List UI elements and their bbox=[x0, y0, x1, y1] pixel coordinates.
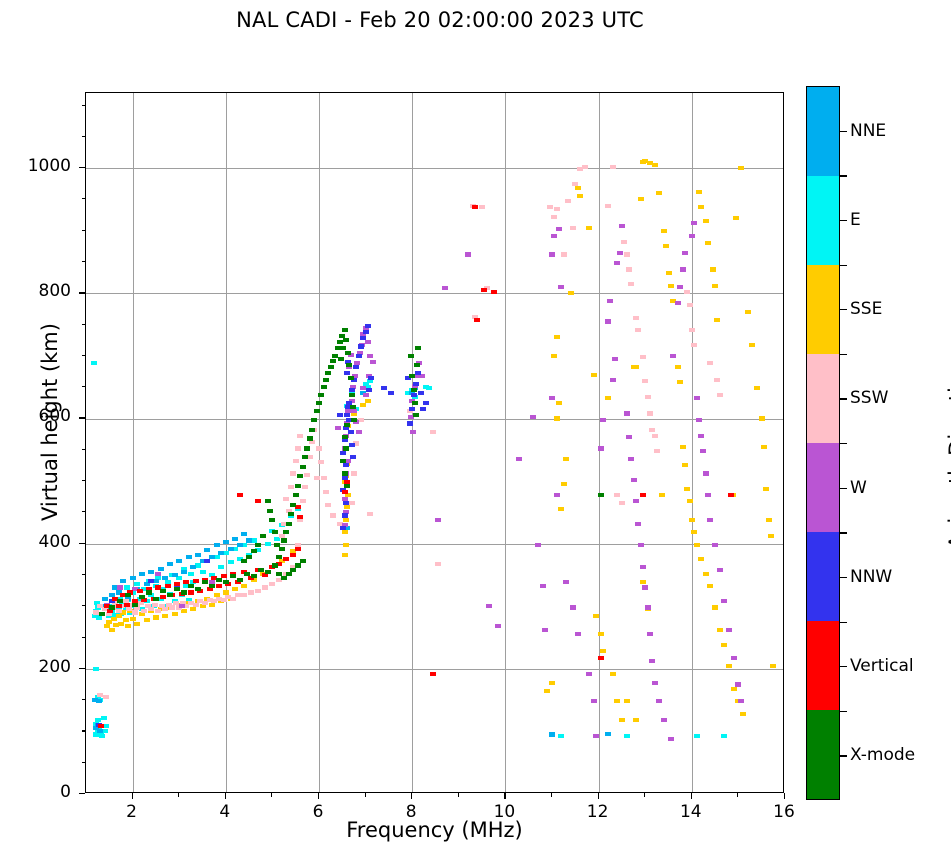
data-mark bbox=[346, 363, 352, 367]
data-mark bbox=[216, 578, 222, 582]
data-mark bbox=[749, 343, 755, 347]
data-mark bbox=[137, 589, 143, 593]
y-tick bbox=[79, 668, 85, 669]
data-mark bbox=[343, 518, 349, 522]
data-mark bbox=[181, 570, 187, 574]
data-mark bbox=[563, 580, 569, 584]
data-mark bbox=[99, 612, 105, 616]
data-mark bbox=[731, 656, 737, 660]
data-mark bbox=[283, 530, 289, 534]
y-tick-label: 0 bbox=[7, 782, 71, 802]
data-mark bbox=[281, 538, 287, 542]
data-mark bbox=[216, 584, 222, 588]
data-mark bbox=[593, 614, 599, 618]
data-mark bbox=[666, 271, 672, 275]
y-minor-tick bbox=[82, 355, 86, 356]
data-mark bbox=[591, 373, 597, 377]
data-mark bbox=[117, 585, 123, 589]
y-minor-tick bbox=[82, 105, 86, 106]
colorbar-separator-tick bbox=[840, 532, 847, 533]
data-mark bbox=[593, 734, 599, 738]
data-mark bbox=[348, 430, 354, 434]
data-mark bbox=[670, 354, 676, 358]
data-mark bbox=[316, 446, 322, 450]
data-mark bbox=[344, 423, 350, 427]
data-mark bbox=[714, 318, 720, 322]
x-minor-tick bbox=[178, 793, 179, 797]
data-mark bbox=[152, 603, 158, 607]
data-mark bbox=[415, 346, 421, 350]
data-mark bbox=[344, 484, 350, 488]
data-mark bbox=[276, 555, 282, 559]
x-axis-title: Frequency (MHz) bbox=[85, 818, 784, 842]
data-mark bbox=[540, 584, 546, 588]
data-mark bbox=[314, 476, 320, 480]
data-mark bbox=[248, 590, 254, 594]
data-mark bbox=[148, 607, 154, 611]
data-mark bbox=[330, 513, 336, 517]
data-mark bbox=[698, 557, 704, 561]
data-mark bbox=[209, 603, 215, 607]
data-mark bbox=[652, 434, 658, 438]
data-mark bbox=[130, 617, 136, 621]
data-mark bbox=[745, 310, 751, 314]
data-mark bbox=[735, 682, 741, 686]
data-mark bbox=[605, 319, 611, 323]
data-mark bbox=[281, 576, 287, 580]
data-mark bbox=[230, 574, 236, 578]
data-mark bbox=[202, 580, 208, 584]
data-mark bbox=[694, 543, 700, 547]
data-mark bbox=[321, 385, 327, 389]
data-mark bbox=[409, 374, 415, 378]
data-mark bbox=[274, 543, 280, 547]
data-mark bbox=[366, 388, 372, 392]
data-mark bbox=[288, 512, 294, 516]
data-mark bbox=[288, 485, 294, 489]
colorbar-segment-nnw[interactable] bbox=[807, 532, 839, 621]
data-mark bbox=[290, 471, 296, 475]
data-mark bbox=[703, 572, 709, 576]
data-mark bbox=[682, 251, 688, 255]
data-mark bbox=[340, 459, 346, 463]
data-mark bbox=[551, 215, 557, 219]
colorbar-segment-e[interactable] bbox=[807, 176, 839, 265]
data-mark bbox=[290, 503, 296, 507]
data-mark bbox=[768, 534, 774, 538]
colorbar-segment-w[interactable] bbox=[807, 443, 839, 532]
x-minor-tick bbox=[644, 793, 645, 797]
colorbar-tick bbox=[840, 131, 847, 132]
data-mark bbox=[705, 493, 711, 497]
data-mark bbox=[193, 603, 199, 607]
data-mark bbox=[614, 261, 620, 265]
data-mark bbox=[614, 699, 620, 703]
data-mark bbox=[717, 393, 723, 397]
colorbar-label-nne: NNE bbox=[850, 121, 886, 141]
data-mark bbox=[624, 411, 630, 415]
data-mark bbox=[558, 734, 564, 738]
data-mark bbox=[316, 401, 322, 405]
colorbar-segment-x-mode[interactable] bbox=[807, 710, 839, 799]
data-mark bbox=[302, 485, 308, 489]
data-mark bbox=[442, 286, 448, 290]
data-mark bbox=[172, 573, 178, 577]
y-minor-tick bbox=[82, 386, 86, 387]
data-mark bbox=[286, 572, 292, 576]
data-mark bbox=[265, 570, 271, 574]
data-mark bbox=[241, 584, 247, 588]
data-mark bbox=[707, 361, 713, 365]
data-mark bbox=[388, 391, 394, 395]
data-mark bbox=[153, 597, 159, 601]
data-mark bbox=[575, 632, 581, 636]
y-tick-label: 1000 bbox=[7, 156, 71, 176]
data-mark bbox=[675, 365, 681, 369]
data-mark bbox=[251, 549, 257, 553]
plot-area bbox=[85, 92, 784, 793]
data-mark bbox=[516, 457, 522, 461]
data-mark bbox=[367, 512, 373, 516]
data-mark bbox=[684, 487, 690, 491]
data-mark bbox=[237, 578, 243, 582]
data-mark bbox=[188, 572, 194, 576]
data-mark bbox=[675, 301, 681, 305]
colorbar-label-e: E bbox=[850, 210, 861, 230]
data-mark bbox=[269, 518, 275, 522]
data-mark bbox=[179, 604, 185, 608]
y-minor-tick bbox=[82, 261, 86, 262]
data-mark bbox=[332, 354, 338, 358]
data-mark bbox=[633, 718, 639, 722]
data-mark bbox=[626, 267, 632, 271]
data-mark bbox=[642, 585, 648, 589]
data-mark bbox=[190, 565, 196, 569]
data-mark bbox=[323, 490, 329, 494]
y-minor-tick bbox=[82, 324, 86, 325]
data-mark bbox=[381, 386, 387, 390]
data-mark bbox=[356, 354, 362, 358]
data-mark bbox=[155, 609, 161, 613]
data-mark bbox=[338, 357, 344, 361]
colorbar-tick bbox=[840, 309, 847, 310]
data-mark bbox=[130, 576, 136, 580]
data-mark bbox=[668, 737, 674, 741]
data-mark bbox=[712, 605, 718, 609]
data-mark bbox=[544, 689, 550, 693]
data-mark bbox=[628, 282, 634, 286]
y-minor-tick bbox=[82, 762, 86, 763]
data-mark bbox=[262, 585, 268, 589]
data-mark bbox=[633, 365, 639, 369]
data-mark bbox=[265, 499, 271, 503]
data-mark bbox=[568, 291, 574, 295]
data-mark bbox=[703, 219, 709, 223]
data-mark bbox=[293, 493, 299, 497]
data-mark bbox=[318, 460, 324, 464]
data-mark bbox=[530, 415, 536, 419]
data-mark bbox=[176, 559, 182, 563]
data-mark bbox=[169, 605, 175, 609]
y-minor-tick bbox=[82, 574, 86, 575]
colorbar-separator-tick bbox=[840, 175, 847, 176]
data-mark bbox=[663, 244, 669, 248]
data-mark bbox=[172, 612, 178, 616]
data-mark bbox=[677, 380, 683, 384]
data-mark bbox=[554, 416, 560, 420]
y-tick bbox=[79, 417, 85, 418]
data-mark bbox=[295, 446, 301, 450]
x-minor-tick bbox=[271, 793, 272, 797]
data-mark bbox=[144, 618, 150, 622]
data-mark bbox=[290, 568, 296, 572]
data-mark bbox=[228, 560, 234, 564]
data-mark bbox=[300, 499, 306, 503]
data-mark bbox=[420, 407, 426, 411]
data-mark bbox=[733, 216, 739, 220]
data-mark bbox=[139, 595, 145, 599]
data-mark bbox=[155, 572, 161, 576]
data-mark bbox=[190, 607, 196, 611]
data-mark bbox=[272, 563, 278, 567]
data-mark bbox=[97, 729, 103, 733]
data-mark bbox=[325, 371, 331, 375]
data-mark bbox=[479, 205, 485, 209]
data-mark bbox=[162, 576, 168, 580]
data-mark bbox=[563, 457, 569, 461]
y-minor-tick bbox=[82, 637, 86, 638]
data-mark bbox=[691, 530, 697, 534]
data-mark bbox=[410, 430, 416, 434]
data-mark bbox=[360, 336, 366, 340]
data-mark bbox=[647, 632, 653, 636]
data-mark bbox=[158, 567, 164, 571]
data-mark bbox=[244, 572, 250, 576]
data-mark bbox=[414, 363, 420, 367]
data-mark bbox=[255, 499, 261, 503]
data-mark bbox=[413, 413, 419, 417]
data-mark bbox=[193, 579, 199, 583]
data-mark bbox=[726, 628, 732, 632]
data-mark bbox=[680, 267, 686, 271]
data-mark bbox=[717, 568, 723, 572]
data-mark bbox=[556, 227, 562, 231]
data-mark bbox=[370, 360, 376, 364]
data-mark bbox=[740, 712, 746, 716]
data-mark bbox=[195, 587, 201, 591]
x-minor-tick bbox=[458, 793, 459, 797]
data-mark bbox=[218, 565, 224, 569]
data-mark bbox=[350, 455, 356, 459]
data-mark bbox=[344, 505, 350, 509]
data-mark bbox=[101, 716, 107, 720]
data-mark bbox=[605, 396, 611, 400]
data-mark bbox=[350, 405, 356, 409]
data-mark bbox=[700, 449, 706, 453]
data-mark bbox=[705, 241, 711, 245]
data-mark bbox=[565, 199, 571, 203]
data-mark bbox=[148, 570, 154, 574]
data-mark bbox=[134, 622, 140, 626]
data-mark bbox=[255, 589, 261, 593]
data-mark bbox=[649, 428, 655, 432]
data-mark bbox=[265, 542, 271, 546]
data-mark bbox=[343, 446, 349, 450]
data-mark bbox=[689, 234, 695, 238]
data-mark bbox=[558, 285, 564, 289]
data-mark bbox=[586, 226, 592, 230]
y-minor-tick bbox=[82, 699, 86, 700]
y-tick bbox=[79, 167, 85, 168]
data-mark bbox=[328, 365, 334, 369]
data-mark bbox=[558, 507, 564, 511]
colorbar bbox=[806, 86, 840, 800]
data-mark bbox=[318, 393, 324, 397]
x-minor-tick bbox=[365, 793, 366, 797]
data-mark bbox=[342, 513, 348, 517]
data-mark bbox=[365, 340, 371, 344]
data-mark bbox=[759, 416, 765, 420]
data-mark bbox=[300, 559, 306, 563]
data-mark bbox=[345, 351, 351, 355]
data-mark bbox=[689, 328, 695, 332]
data-mark bbox=[598, 632, 604, 636]
data-mark bbox=[626, 435, 632, 439]
data-mark bbox=[694, 734, 700, 738]
data-mark bbox=[430, 672, 436, 676]
data-mark bbox=[577, 194, 583, 198]
data-mark bbox=[423, 401, 429, 405]
data-mark bbox=[575, 186, 581, 190]
data-mark bbox=[330, 359, 336, 363]
data-mark bbox=[325, 503, 331, 507]
data-mark bbox=[411, 388, 417, 392]
data-mark bbox=[260, 534, 266, 538]
data-mark bbox=[235, 593, 241, 597]
colorbar-separator-tick bbox=[840, 443, 847, 444]
data-mark bbox=[297, 515, 303, 519]
data-mark bbox=[311, 418, 317, 422]
data-mark bbox=[269, 582, 275, 586]
data-mark bbox=[607, 299, 613, 303]
data-mark bbox=[624, 699, 630, 703]
data-mark bbox=[570, 605, 576, 609]
data-mark bbox=[691, 221, 697, 225]
data-mark bbox=[181, 609, 187, 613]
data-mark bbox=[698, 205, 704, 209]
data-mark bbox=[628, 457, 634, 461]
data-mark bbox=[418, 391, 424, 395]
data-mark bbox=[712, 284, 718, 288]
data-mark bbox=[591, 699, 597, 703]
colorbar-tick bbox=[840, 666, 847, 667]
data-mark bbox=[340, 526, 346, 530]
data-mark bbox=[230, 597, 236, 601]
data-mark bbox=[304, 446, 310, 450]
data-mark bbox=[763, 487, 769, 491]
data-mark bbox=[761, 445, 767, 449]
data-mark bbox=[363, 393, 369, 397]
data-mark bbox=[668, 284, 674, 288]
data-layer bbox=[86, 93, 783, 792]
data-mark bbox=[358, 344, 364, 348]
x-tick bbox=[318, 793, 319, 799]
data-mark bbox=[408, 354, 414, 358]
data-mark bbox=[687, 499, 693, 503]
data-mark bbox=[186, 555, 192, 559]
data-mark bbox=[610, 165, 616, 169]
data-mark bbox=[232, 537, 238, 541]
data-mark bbox=[351, 418, 357, 422]
page-title: NAL CADI - Feb 20 02:00:00 2023 UTC bbox=[0, 8, 880, 32]
data-mark bbox=[116, 604, 122, 608]
data-mark bbox=[652, 163, 658, 167]
colorbar-segment-sse[interactable] bbox=[807, 265, 839, 354]
data-mark bbox=[340, 451, 346, 455]
data-mark bbox=[363, 330, 369, 334]
data-mark bbox=[635, 522, 641, 526]
data-mark bbox=[465, 252, 471, 256]
data-mark bbox=[295, 484, 301, 488]
data-mark bbox=[411, 393, 417, 397]
data-mark bbox=[652, 681, 658, 685]
data-mark bbox=[314, 409, 320, 413]
data-mark bbox=[661, 718, 667, 722]
data-mark bbox=[162, 614, 168, 618]
data-mark bbox=[188, 584, 194, 588]
data-mark bbox=[619, 718, 625, 722]
colorbar-segment-vertical[interactable] bbox=[807, 621, 839, 710]
colorbar-separator-tick bbox=[840, 622, 847, 623]
data-mark bbox=[486, 604, 492, 608]
data-mark bbox=[342, 490, 348, 494]
data-mark bbox=[93, 667, 99, 671]
data-mark bbox=[343, 543, 349, 547]
y-minor-tick bbox=[82, 480, 86, 481]
data-mark bbox=[703, 471, 709, 475]
data-mark bbox=[342, 553, 348, 557]
data-mark bbox=[132, 610, 138, 614]
colorbar-segment-ssw[interactable] bbox=[807, 354, 839, 443]
data-mark bbox=[600, 649, 606, 653]
data-mark bbox=[635, 328, 641, 332]
data-mark bbox=[426, 386, 432, 390]
data-mark bbox=[365, 399, 371, 403]
data-mark bbox=[677, 285, 683, 289]
data-mark bbox=[633, 499, 639, 503]
data-mark bbox=[647, 411, 653, 415]
data-mark bbox=[600, 418, 606, 422]
data-mark bbox=[116, 609, 122, 613]
data-mark bbox=[241, 532, 247, 536]
data-mark bbox=[682, 463, 688, 467]
colorbar-segment-nne[interactable] bbox=[807, 87, 839, 176]
data-mark bbox=[223, 540, 229, 544]
data-mark bbox=[696, 190, 702, 194]
data-mark bbox=[96, 615, 102, 619]
data-mark bbox=[549, 252, 555, 256]
y-minor-tick bbox=[82, 605, 86, 606]
data-mark bbox=[717, 628, 723, 632]
colorbar-separator-tick bbox=[840, 265, 847, 266]
data-mark bbox=[614, 493, 620, 497]
data-mark bbox=[258, 568, 264, 572]
y-axis-title: Virtual height (km) bbox=[38, 292, 62, 552]
data-mark bbox=[605, 732, 611, 736]
data-mark bbox=[654, 449, 660, 453]
data-mark bbox=[638, 197, 644, 201]
data-mark bbox=[542, 628, 548, 632]
